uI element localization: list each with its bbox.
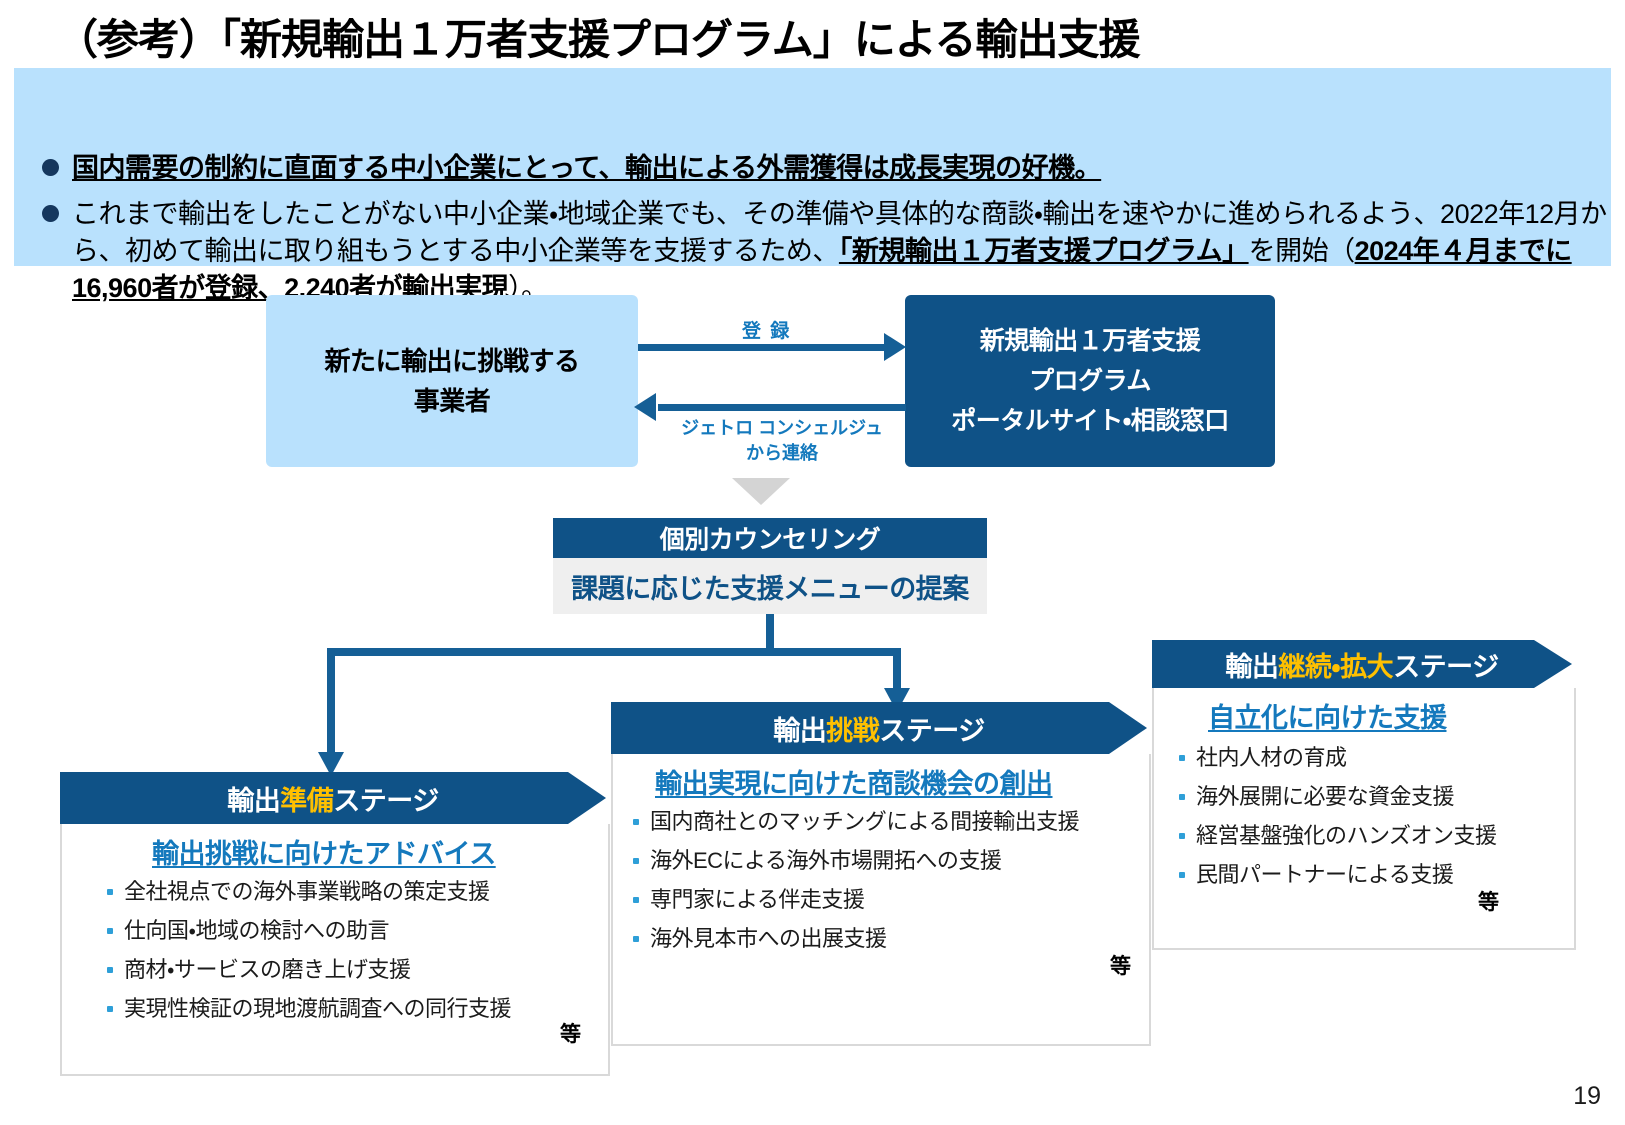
- list-item: 国内商社とのマッチングによる間接輸出支援: [630, 802, 1079, 841]
- stage-banner-prefix: 輸出: [773, 709, 826, 748]
- contact-arrow-head-icon: [634, 393, 656, 421]
- summary-bullet-2-text: これまで輸出をしたことがない中小企業・地域企業でも、その準備や具体的な商談・輸出…: [72, 196, 1612, 307]
- stage-bullets-challenge: 国内商社とのマッチングによる間接輸出支援 海外ECによる海外市場開拓への支援 専…: [630, 802, 1079, 958]
- stage-bullets-expansion: 社内人材の育成 海外展開に必要な資金支援 経営基盤強化のハンズオン支援 民間パー…: [1176, 738, 1497, 894]
- summary-bullet-1: 国内需要の制約に直面する中小企業にとって、輸出による外需獲得は成長実現の好機。: [42, 150, 1602, 187]
- down-triangle-icon: [732, 478, 790, 505]
- exporter-box-line2: 事業者: [324, 381, 579, 421]
- stage-banner-suffix: ステージ: [333, 779, 438, 818]
- stage-etc-challenge: 等: [1110, 950, 1131, 980]
- page-title: （参考）「新規輸出１万者支援プログラム」による輸出支援: [56, 6, 1139, 67]
- list-item: 仕向国・地域の検討への助言: [104, 911, 511, 950]
- list-item: 社内人材の育成: [1176, 738, 1497, 777]
- summary-bullet-2-part2: を開始（: [1249, 236, 1355, 266]
- stage-banner-highlight: 準備: [280, 779, 333, 818]
- stage-subhead-expansion: 自立化に向けた支援: [1208, 696, 1447, 735]
- stage-subhead-preparation: 輸出挑戦に向けたアドバイス: [152, 832, 496, 871]
- program-box-line3: ポータルサイト・相談窓口: [951, 401, 1229, 441]
- stage-banner-prefix: 輸出: [1225, 645, 1278, 684]
- list-item: 経営基盤強化のハンズオン支援: [1176, 816, 1497, 855]
- list-item: 実現性検証の現地渡航調査への同行支援: [104, 989, 511, 1028]
- program-box-line2: プログラム: [951, 361, 1229, 401]
- list-item: 専門家による伴走支援: [630, 880, 1079, 919]
- exporter-box: 新たに輸出に挑戦する 事業者: [266, 295, 638, 467]
- stage-banner-suffix: ステージ: [879, 709, 984, 748]
- exporter-box-line1: 新たに輸出に挑戦する: [324, 341, 579, 381]
- register-arrow-shaft-icon: [638, 344, 886, 351]
- register-arrow-head-icon: [884, 333, 906, 361]
- stage-banner-prefix: 輸出: [227, 779, 280, 818]
- list-item: 民間パートナーによる支援: [1176, 855, 1497, 894]
- program-portal-box: 新規輸出１万者支援 プログラム ポータルサイト・相談窓口: [905, 295, 1275, 467]
- register-arrow-label: 登 録: [742, 316, 791, 343]
- stage-subhead-challenge: 輸出実現に向けた商談機会の創出: [655, 762, 1053, 801]
- connector-left-branch-icon: [327, 648, 335, 760]
- stage-banner-preparation: 輸出準備ステージ: [60, 772, 606, 824]
- connector-vertical-icon: [766, 614, 774, 652]
- stage-banner-challenge: 輸出挑戦ステージ: [611, 702, 1147, 754]
- summary-bullet-2: これまで輸出をしたことがない中小企業・地域企業でも、その準備や具体的な商談・輸出…: [42, 196, 1612, 307]
- program-box-line1: 新規輸出１万者支援: [951, 321, 1229, 361]
- stage-etc-expansion: 等: [1478, 886, 1499, 916]
- stage-banner-highlight: 継続・拡大: [1278, 645, 1393, 684]
- contact-arrow-label-line2: から連絡: [672, 441, 892, 466]
- list-item: 海外展開に必要な資金支援: [1176, 777, 1497, 816]
- summary-band: 国内需要の制約に直面する中小企業にとって、輸出による外需獲得は成長実現の好機。 …: [14, 68, 1611, 266]
- summary-bullet-1-text: 国内需要の制約に直面する中小企業にとって、輸出による外需獲得は成長実現の好機。: [72, 150, 1101, 187]
- stage-banner-highlight: 挑戦: [826, 709, 879, 748]
- summary-program-name: 「新規輸出１万者支援プログラム」: [839, 236, 1249, 266]
- counseling-body: 課題に応じた支援メニューの提案: [553, 558, 987, 614]
- contact-arrow-label: ジェトロ コンシェルジュ から連絡: [672, 416, 892, 466]
- counseling-header: 個別カウンセリング: [553, 518, 987, 558]
- contact-arrow-shaft-icon: [658, 404, 906, 411]
- list-item: 商材・サービスの磨き上げ支援: [104, 950, 511, 989]
- bullet-dot-icon: [42, 159, 59, 176]
- stage-banner-expansion: 輸出継続・拡大ステージ: [1152, 640, 1572, 688]
- connector-horizontal-icon: [327, 648, 901, 656]
- bullet-dot-icon: [42, 205, 59, 222]
- stage-etc-preparation: 等: [560, 1018, 581, 1048]
- list-item: 全社視点での海外事業戦略の策定支援: [104, 872, 511, 911]
- list-item: 海外ECによる海外市場開拓への支援: [630, 841, 1079, 880]
- contact-arrow-label-line1: ジェトロ コンシェルジュ: [672, 416, 892, 441]
- slide-root: （参考）「新規輸出１万者支援プログラム」による輸出支援 国内需要の制約に直面する…: [0, 0, 1625, 1125]
- stage-bullets-preparation: 全社視点での海外事業戦略の策定支援 仕向国・地域の検討への助言 商材・サービスの…: [104, 872, 511, 1028]
- page-number: 19: [1573, 1082, 1601, 1111]
- stage-banner-suffix: ステージ: [1393, 645, 1498, 684]
- list-item: 海外見本市への出展支援: [630, 919, 1079, 958]
